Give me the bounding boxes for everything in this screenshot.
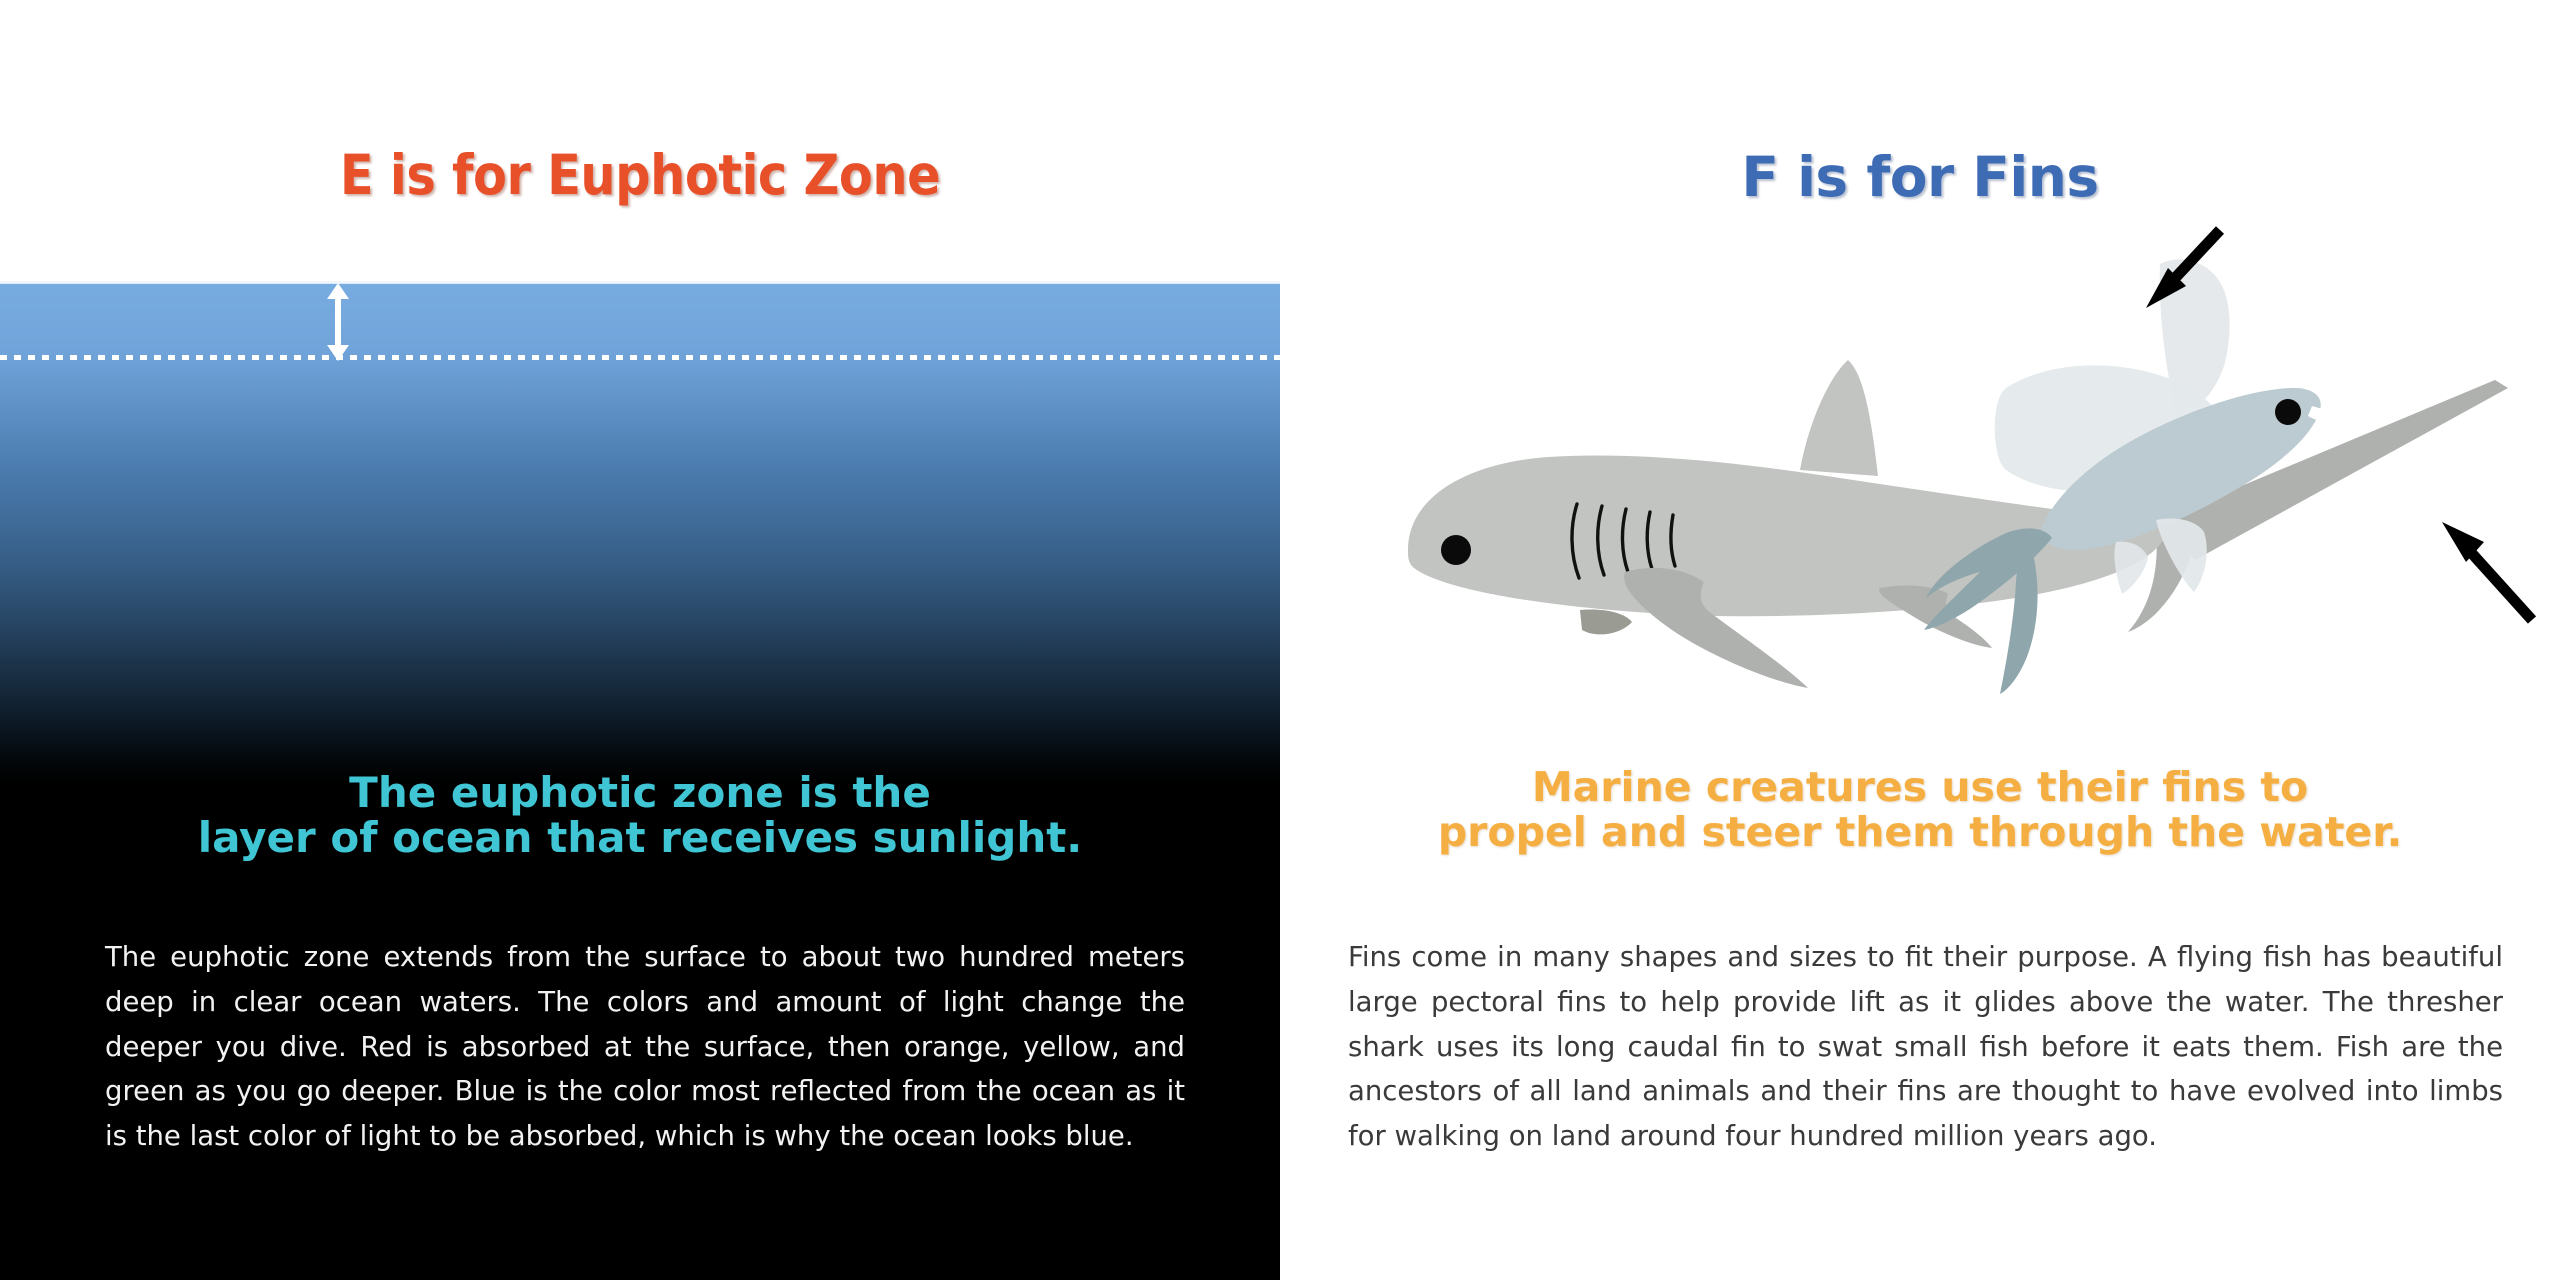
shark-dorsal-fin — [1800, 360, 1878, 476]
subtitle-line-1: Marine creatures use their fins to — [1320, 765, 2520, 810]
annotation-arrow-caudal-fin — [2442, 522, 2532, 620]
right-page-fins: F is for Fins — [1280, 0, 2560, 1280]
flying-fish-eye — [2275, 399, 2301, 425]
shark-eye — [1441, 535, 1471, 565]
page-title-euphotic-zone: E is for Euphotic Zone — [0, 143, 1280, 207]
fins-illustration — [1280, 220, 2560, 700]
ocean-surface-line — [0, 281, 1280, 284]
subtitle-line-1: The euphotic zone is the — [60, 770, 1220, 815]
depth-double-arrow-icon — [320, 283, 356, 361]
left-page-euphotic-zone: E is for Euphotic Zone The euphotic zone… — [0, 0, 1280, 1280]
subtitle-euphotic-zone: The euphotic zone is the layer of ocean … — [60, 770, 1220, 861]
body-paragraph-fins: Fins come in many shapes and sizes to fi… — [1348, 935, 2503, 1159]
thresher-shark-illustration — [1408, 360, 2508, 688]
subtitle-line-2: propel and steer them through the water. — [1320, 810, 2520, 855]
body-paragraph-euphotic-zone: The euphotic zone extends from the surfa… — [105, 935, 1185, 1159]
book-spread: E is for Euphotic Zone The euphotic zone… — [0, 0, 2560, 1280]
page-title-fins: F is for Fins — [1280, 145, 2560, 209]
shark-ventral-fin-small — [1580, 610, 1632, 635]
subtitle-line-2: layer of ocean that receives sunlight. — [60, 815, 1220, 860]
subtitle-fins: Marine creatures use their fins to prope… — [1320, 765, 2520, 855]
euphotic-zone-boundary-dotted-line — [0, 355, 1280, 360]
